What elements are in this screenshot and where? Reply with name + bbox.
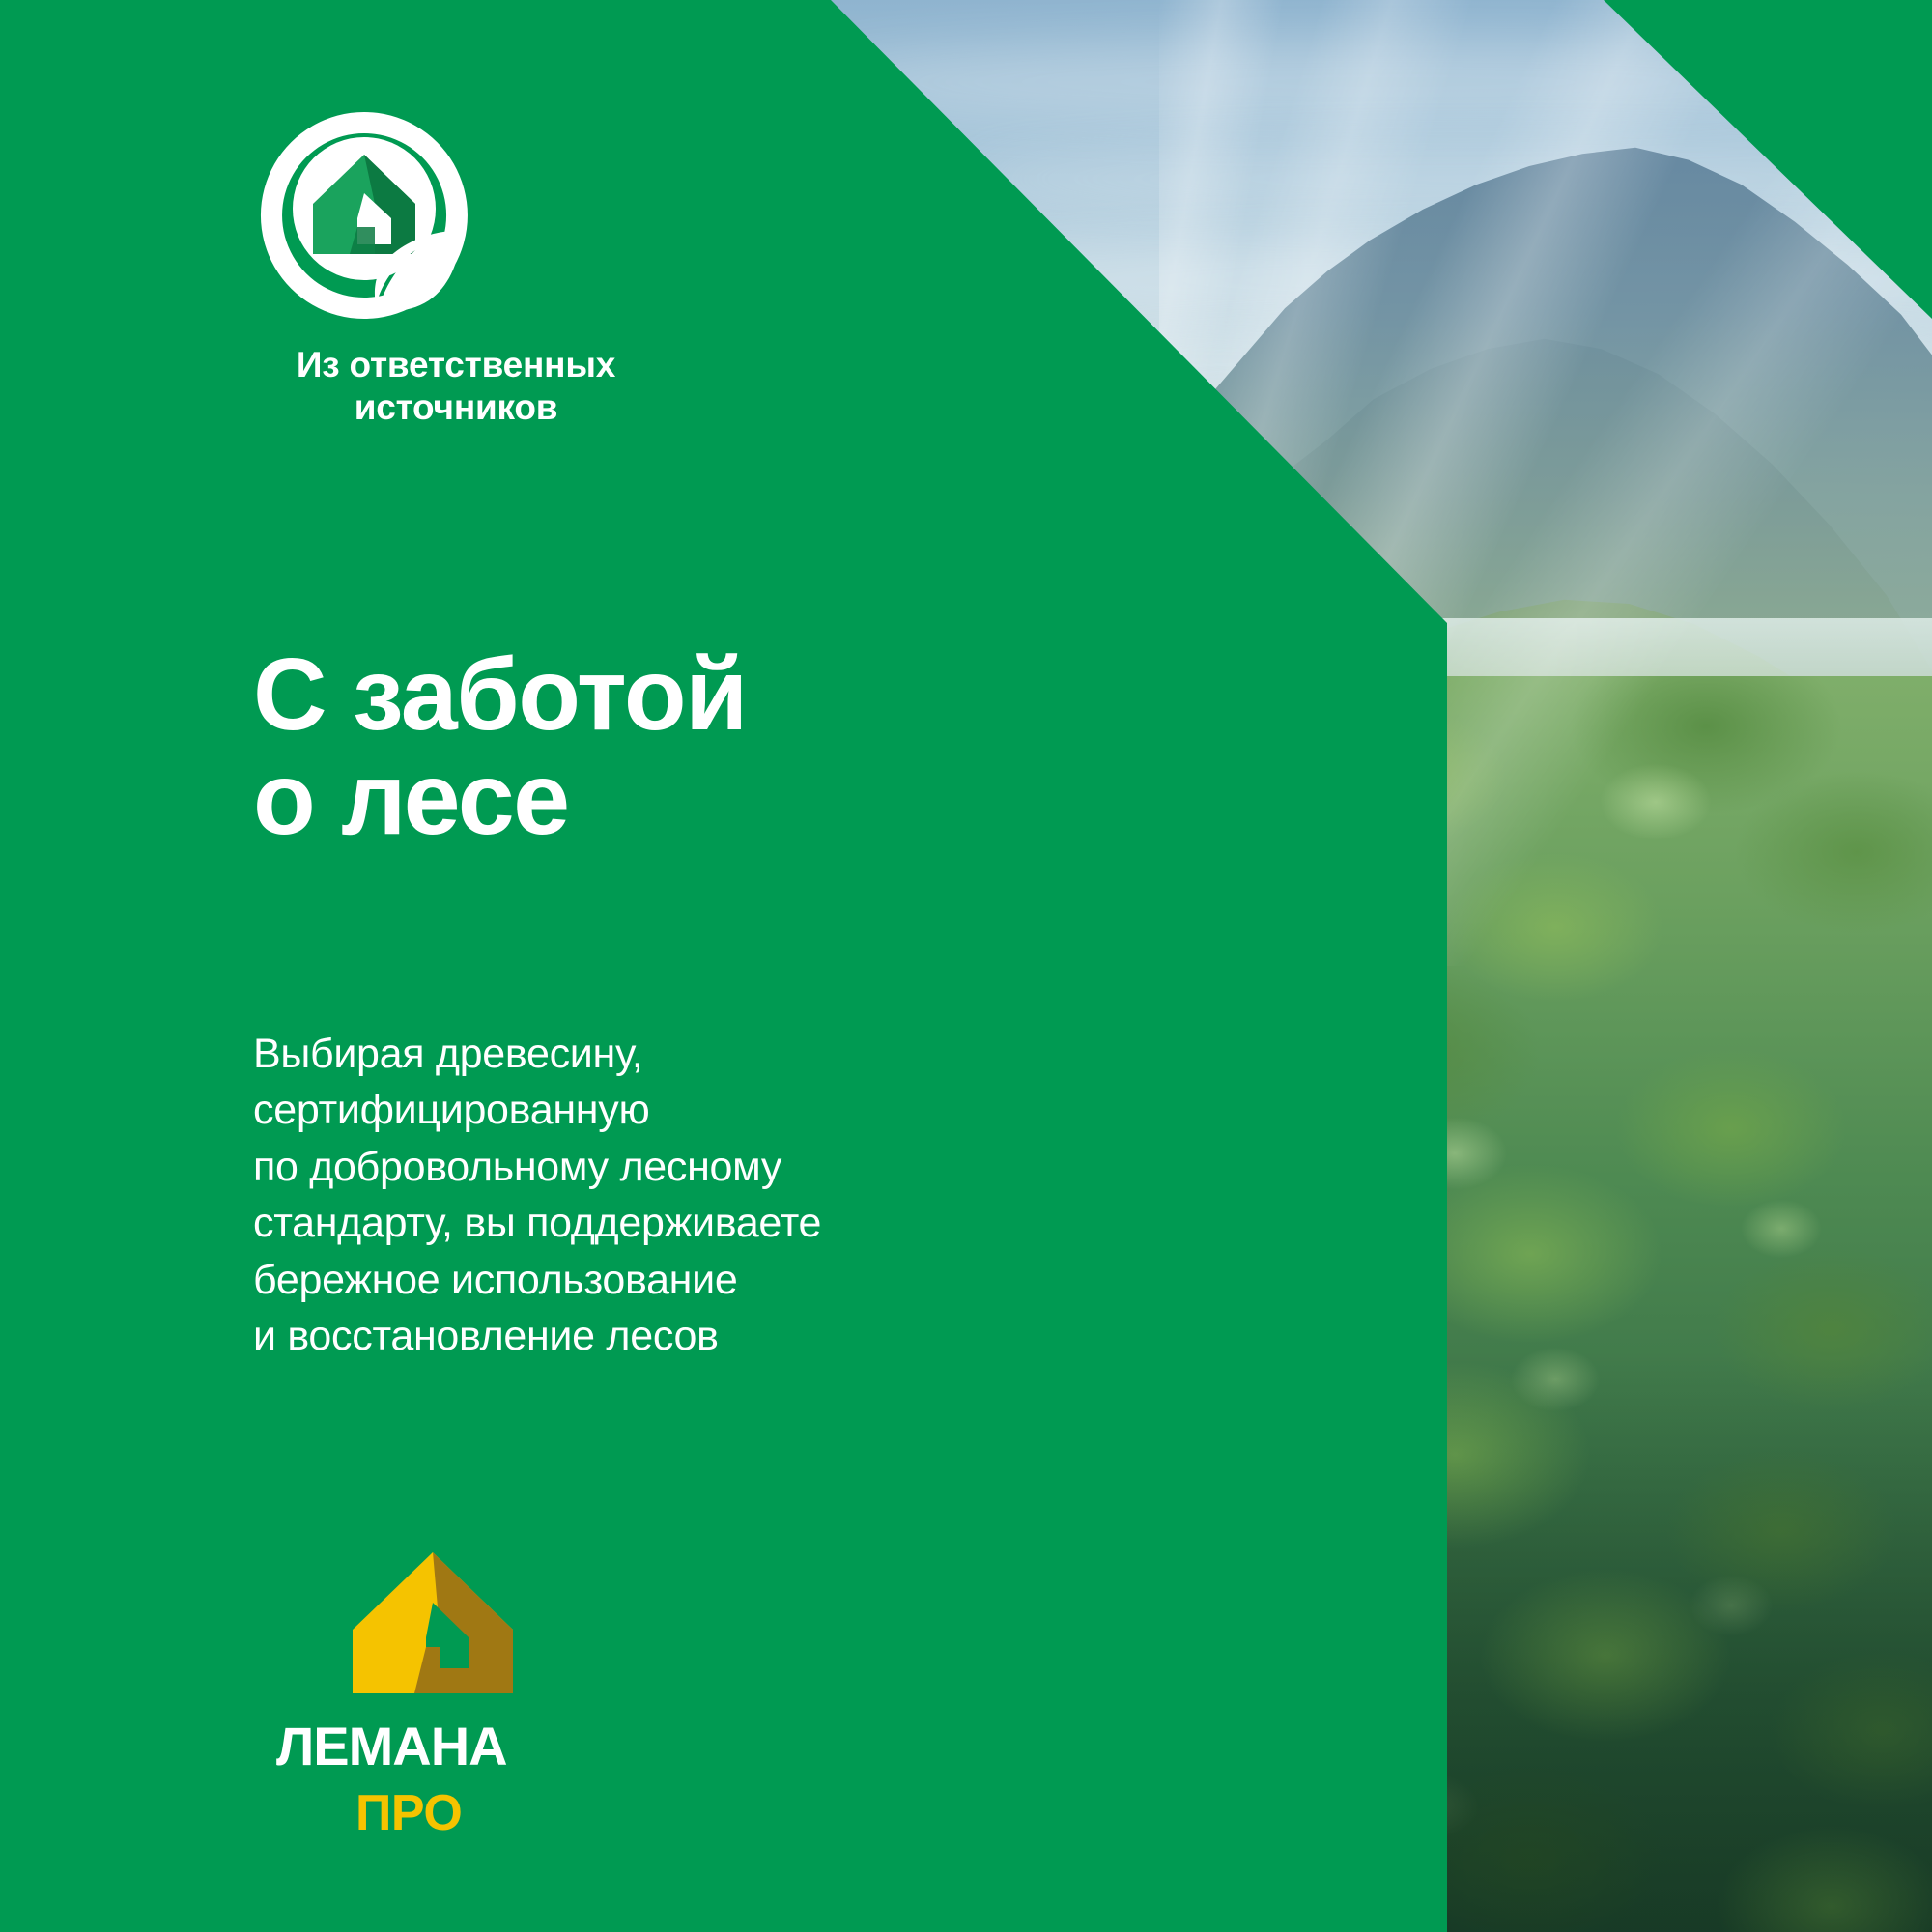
page-title: С заботой о лесе [253,642,1122,851]
headline-line-1: С заботой [253,642,1122,747]
body-line-3: по добровольному лесному [253,1139,1007,1195]
body-line-5: бережное использование [253,1252,1007,1308]
body-copy: Выбирая древесину, сертифицированную по … [253,1026,1007,1365]
certification-caption-line-1: Из ответственных [253,344,659,386]
certification-caption-line-2: источников [253,386,659,429]
body-line-1: Выбирая древесину, [253,1026,1007,1082]
body-line-4: стандарту, вы поддерживаете [253,1195,1007,1251]
poster-root: Из ответственных источников С заботой о … [0,0,1932,1932]
certification-badge: Из ответственных источников [249,104,665,430]
headline-line-2: о лесе [253,747,1122,851]
brand-suffix: ПРО [355,1786,515,1836]
brand-logo: ЛЕМАНА ПРО [249,1550,636,1836]
brand-suffix-text: ПРО [355,1786,462,1836]
certification-caption: Из ответственных источников [249,344,659,430]
house-in-circle-with-leaf-icon [253,104,475,327]
body-line-2: сертифицированную [253,1082,1007,1138]
brand-name-text: ЛЕМАНА [276,1719,507,1773]
lemana-house-icon [351,1550,515,1695]
body-line-6: и восстановление лесов [253,1308,1007,1364]
brand-wordmark: ЛЕМАНА [276,1719,595,1773]
